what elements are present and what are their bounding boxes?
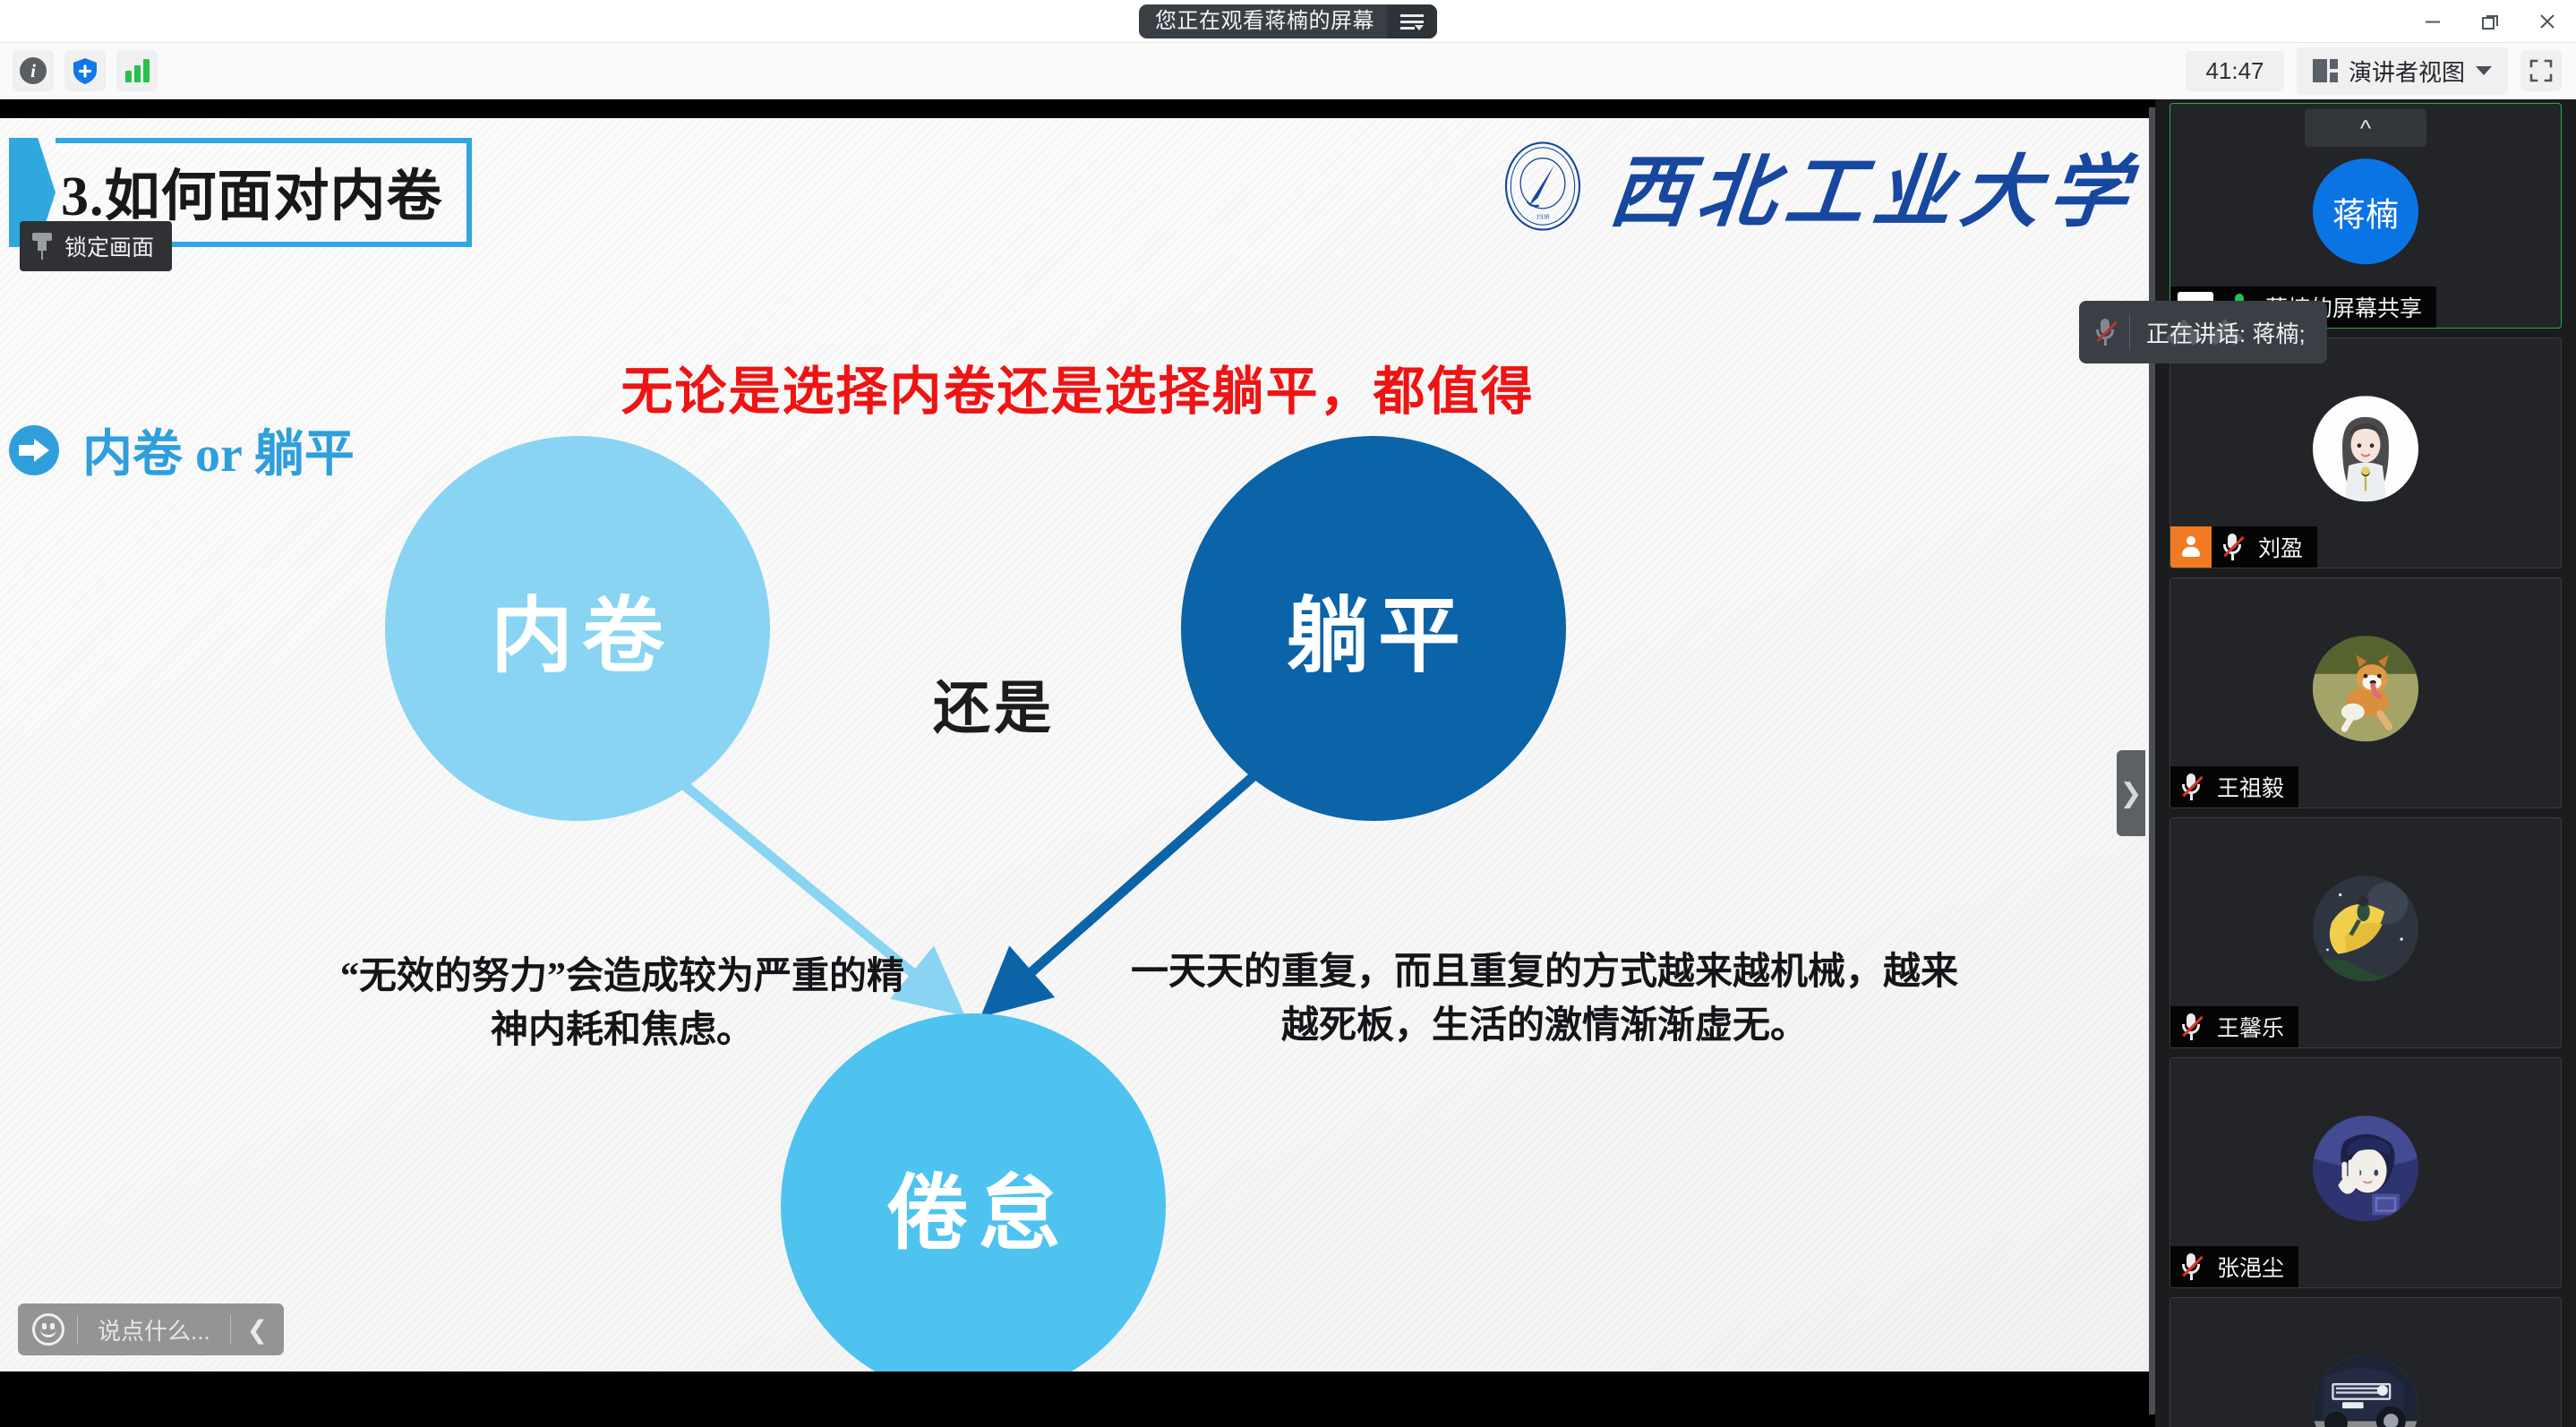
toolbar-right-group: 41:47 演讲者视图 [2186,47,2576,95]
caption-left: “无效的努力”会造成较为严重的精神内耗和焦虑。 [336,951,909,1057]
lock-screen-label: 锁定画面 [64,230,154,262]
mic-status [2212,534,2253,560]
participant-tile[interactable]: 刘盈 [2169,338,2562,568]
avatar: 蒋楠 [2313,158,2418,264]
share-notice-label: 您正在观看蒋楠的屏幕 [1139,4,1387,38]
host-badge-icon [2170,526,2212,568]
panel-collapse-button[interactable]: ❯ [2117,750,2145,836]
mic-status [2170,773,2212,800]
corgi-photo-avatar [2313,636,2418,741]
participant-name: 刘盈 [2253,531,2303,563]
maximize-button[interactable] [2461,0,2519,43]
car-photo-avatar [2313,1355,2418,1427]
view-mode-label: 演讲者视图 [2349,55,2465,88]
restore-icon [2478,10,2502,33]
circle-juandai-label: 倦怠 [877,1147,1069,1266]
chevrons-decor-icon [2157,312,2273,353]
active-speaker-toast: 正在讲话: 蒋楠; [2079,301,2327,363]
fullscreen-button[interactable] [2520,50,2562,91]
nwpu-seal-icon: 1938 [1494,138,1591,235]
security-button[interactable] [64,50,106,91]
page-title: 3.如何面对内卷 [61,150,443,231]
meeting-window: 您正在观看蒋楠的屏幕 [0,0,2576,1427]
info-icon: i [20,57,47,84]
scroll-up-button[interactable]: ^ [2305,109,2426,147]
mic-muted-icon [2181,773,2201,800]
circle-neijuan: 内卷 [385,436,770,821]
participants-panel: ^ 蒋楠 蒋楠的屏幕共享 [2155,99,2576,1427]
participant-name: 王祖毅 [2212,771,2284,803]
caption-right: 一天天的重复，而且重复的方式越来越机械，越来越死板，生活的激情渐渐虚无。 [1124,946,1965,1053]
participant-namebar: 张浥尘 [2170,1246,2298,1287]
circle-juandai: 倦怠 [781,1013,1166,1371]
svg-text:1938: 1938 [1536,212,1549,220]
university-logo: 1938 西北工业大学 [1494,129,2137,243]
avatar [2313,636,2418,741]
middle-word: 还是 [877,662,1110,745]
mic-muted-icon [2222,534,2242,560]
avatar [2313,876,2418,981]
slide-subtitle: 内卷 or 躺平 [82,414,355,486]
participant-name: 张浥尘 [2212,1251,2284,1283]
chevron-down-icon [2476,66,2492,75]
mic-muted-icon [2181,1013,2201,1040]
minimize-icon [2421,10,2444,33]
slide-subtitle-block: 内卷 or 躺平 [9,414,355,486]
avatar-initials: 蒋楠 [2332,187,2399,235]
slide-headline: 无论是选择内卷还是选择躺平，都值得 [0,349,2155,424]
signal-bars-icon [125,59,150,82]
participant-namebar: 王馨乐 [2170,1006,2298,1047]
university-name: 西北工业大学 [1605,129,2143,243]
minimize-button[interactable] [2404,0,2461,43]
chat-input-bar[interactable]: 说点什么... ❮ [18,1303,284,1355]
smiley-icon[interactable] [32,1313,64,1346]
lock-screen-button[interactable]: 锁定画面 [20,221,172,271]
fullscreen-icon [2528,57,2555,84]
chat-input-placeholder[interactable]: 说点什么... [78,1313,230,1346]
mic-muted-icon [2181,1253,2201,1280]
avatar [2313,1115,2418,1221]
shield-plus-icon [71,56,99,85]
close-icon [2536,10,2559,33]
circle-tangping: 躺平 [1181,436,1566,821]
arrow-right-icon [9,425,59,475]
participant-name: 王馨乐 [2212,1011,2284,1043]
shared-screen-stage: 3.如何面对内卷 内卷 or 躺平 1938 西北工业大学 [0,99,2155,1427]
toast-divider [2129,315,2130,349]
participant-tile[interactable]: 张浥尘 [2169,1057,2562,1288]
mic-status [2170,1253,2212,1280]
mic-muted-icon [2095,319,2115,346]
hamburger-caret-icon [1400,13,1424,30]
network-stats-button[interactable] [116,50,158,91]
share-notice-pill[interactable]: 您正在观看蒋楠的屏幕 [1139,4,1437,38]
participant-namebar: 刘盈 [2170,526,2317,568]
avatar [2313,396,2418,501]
meeting-info-button[interactable]: i [13,50,54,91]
title-bar: 您正在观看蒋楠的屏幕 [0,0,2576,43]
meeting-timer: 41:47 [2186,51,2284,91]
participant-tile[interactable]: ⌄ [2169,1297,2562,1427]
close-button[interactable] [2519,0,2576,43]
moon-illustration-avatar [2313,876,2418,981]
avatar [2313,1355,2418,1427]
participant-tile[interactable]: 王祖毅 [2169,577,2562,808]
share-menu-button[interactable] [1387,4,1437,38]
layout-icon [2313,59,2338,82]
mic-status [2170,1013,2212,1040]
view-mode-selector[interactable]: 演讲者视图 [2297,47,2508,95]
anime-character-avatar [2313,1115,2418,1221]
circle-tangping-label: 躺平 [1278,569,1469,688]
pin-icon [32,233,52,260]
participant-tile[interactable]: ^ 蒋楠 蒋楠的屏幕共享 [2169,103,2562,329]
chevron-left-icon[interactable]: ❮ [231,1315,284,1345]
participant-tile[interactable]: 王馨乐 [2169,817,2562,1048]
meeting-toolbar: i 41:47 演讲者视图 [0,43,2576,99]
participant-namebar: 王祖毅 [2170,766,2298,807]
girl-illustration-avatar [2313,396,2418,501]
window-controls [2404,0,2576,43]
toolbar-left-group: i [0,50,158,91]
presentation-slide: 3.如何面对内卷 内卷 or 躺平 1938 西北工业大学 [0,118,2155,1371]
circle-neijuan-label: 内卷 [482,569,673,688]
